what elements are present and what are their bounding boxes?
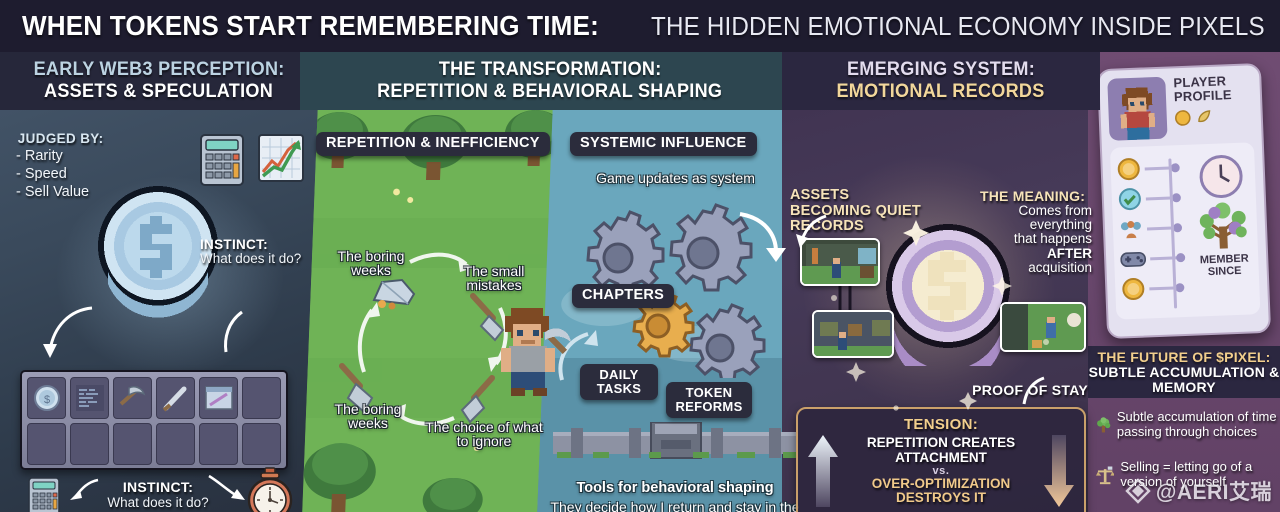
header-line-1: EARLY WEB3 PERCEPTION:: [33, 59, 284, 81]
profile-currency-row: [1174, 108, 1232, 126]
inventory-slot-pickaxe[interactable]: [113, 377, 152, 419]
inventory-slot-scroll[interactable]: [70, 377, 109, 419]
tension-text: REPETITION CREATES ATTACHMENT vs. OVER-O…: [846, 436, 1036, 506]
fence-icon: [553, 422, 798, 462]
meaning-title: THE MEANING:: [980, 188, 1092, 204]
systemic-subtitle: Game updates as system: [558, 170, 793, 186]
header-line-1: THE TRANSFORMATION:: [439, 59, 662, 81]
inventory-row: $: [27, 377, 281, 419]
tree-icon: [1096, 410, 1111, 440]
coin-icon: [1174, 109, 1191, 126]
instinct-right-title: INSTINCT:: [200, 237, 308, 252]
arrow-down-curve-icon: [730, 208, 790, 278]
title-secondary: THE HIDDEN EMOTIONAL ECONOMY INSIDE PIXE…: [651, 11, 1265, 42]
instinct-right-block: INSTINCT: What does it do?: [200, 237, 308, 266]
tree-icon: [1194, 197, 1252, 253]
future-item-text: Subtle accumulation of time passing thro…: [1117, 410, 1278, 439]
judged-by-item: - Rarity: [16, 148, 105, 164]
cycle-label-bottom-left: The boring weeks: [322, 402, 414, 431]
track-dot: [1173, 223, 1182, 232]
game-screenshot-thumb[interactable]: [1000, 302, 1086, 352]
meaning-body-1: Comes from: [980, 204, 1092, 218]
repetition-chip-wrap: REPETITION & INEFFICIENCY: [316, 132, 550, 156]
repetition-chip: REPETITION & INEFFICIENCY: [316, 132, 550, 156]
future-header: THE FUTURE OF $PIXEL: SUBTLE ACCUMULATIO…: [1088, 346, 1280, 398]
header-line-2: EMOTIONAL RECORDS: [837, 81, 1045, 103]
daily-tasks-chip-wrap: DAILY TASKS: [580, 364, 658, 400]
future-header-line-1: THE FUTURE OF $PIXEL:: [1098, 349, 1271, 365]
arrow-left-small-icon: [62, 476, 102, 506]
calculator-small-icon: [28, 477, 60, 512]
tools-subtitle: They decide how I return and stay in the…: [548, 500, 800, 512]
scales-icon: [1096, 460, 1114, 490]
diamond-icon: [1125, 478, 1151, 504]
inventory-slot-empty[interactable]: [27, 423, 66, 465]
instinct-right-body: What does it do?: [200, 252, 308, 266]
tension-line-1: REPETITION CREATES ATTACHMENT: [846, 436, 1036, 465]
track-row[interactable]: [1121, 272, 1198, 305]
meaning-body-4: AFTER: [980, 247, 1092, 261]
tension-card: TENSION: REPETITION CREATES ATTACHMENT v…: [796, 407, 1086, 512]
inventory-bar[interactable]: $: [20, 370, 288, 470]
judged-by-item: - Speed: [16, 166, 105, 182]
svg-text:$: $: [43, 394, 49, 406]
inventory-slot-coin[interactable]: $: [27, 377, 66, 419]
judged-by-item: - Sell Value: [16, 184, 105, 200]
token-reforms-chip-wrap: TOKEN REFORMS: [666, 382, 752, 418]
judged-by-block: JUDGED BY: - Rarity - Speed - Sell Value: [16, 130, 105, 200]
arrow-right-small-icon: [205, 472, 251, 506]
coin-icon: [1121, 277, 1146, 302]
panel-emerging-system: EMERGING SYSTEM: EMOTIONAL RECORDS ASSET…: [782, 52, 1100, 512]
panel-header-emerging-system: EMERGING SYSTEM: EMOTIONAL RECORDS: [782, 52, 1100, 110]
inventory-slot-empty[interactable]: [70, 423, 109, 465]
leaf-token-icon: [1195, 108, 1212, 125]
daily-tasks-chip: DAILY TASKS: [580, 364, 658, 400]
inventory-row: [27, 423, 281, 465]
future-header-line-2: SUBTLE ACCUMULATION & MEMORY: [1088, 365, 1280, 394]
chart-up-icon: [258, 134, 304, 187]
inventory-slot-sword[interactable]: [156, 377, 195, 419]
inventory-slot-empty[interactable]: [242, 377, 281, 419]
check-orb-icon: [1117, 187, 1142, 212]
member-since-label: MEMBER SINCE: [1196, 253, 1253, 279]
track-row[interactable]: [1117, 182, 1194, 215]
panel-player-profile: PLAYER PROFILE: [1088, 52, 1280, 512]
systemic-chip-wrap: SYSTEMIC INFLUENCE: [570, 132, 757, 156]
game-screenshot-thumb[interactable]: [812, 310, 894, 358]
coin-icon: [1116, 157, 1141, 182]
watermark-text: @AERI艾瑞: [1156, 476, 1272, 506]
player-profile-card[interactable]: PLAYER PROFILE: [1097, 63, 1271, 339]
profile-header: PLAYER PROFILE: [1107, 73, 1253, 140]
cycle-label-top-right: The small mistakes: [448, 264, 540, 293]
profile-title-line-2: PROFILE: [1174, 88, 1232, 105]
infographic-poster: WHEN TOKENS START REMEMBERING TIME: THE …: [0, 0, 1280, 512]
panel-early-web3: EARLY WEB3 PERCEPTION: ASSETS & SPECULAT…: [0, 52, 318, 512]
profile-title-block: PLAYER PROFILE: [1173, 74, 1233, 126]
profile-stats-panel: MEMBER SINCE: [1110, 142, 1260, 319]
meaning-body-5: acquisition: [980, 261, 1092, 275]
cycle-label-top-left: The boring weeks: [325, 249, 417, 278]
track-dot: [1172, 193, 1181, 202]
judged-by-title: JUDGED BY:: [18, 130, 104, 146]
track-dot: [1175, 283, 1184, 292]
meaning-body-3: that happens: [980, 232, 1092, 246]
inventory-slot-empty[interactable]: [113, 423, 152, 465]
gamepad-icon: [1120, 249, 1147, 270]
achievement-track: [1116, 152, 1198, 313]
track-dot: [1171, 163, 1180, 172]
inventory-slot-empty[interactable]: [242, 423, 281, 465]
tension-title: TENSION:: [806, 416, 1076, 433]
track-dot: [1176, 253, 1185, 262]
chapters-chip: CHAPTERS: [572, 284, 674, 308]
arrow-down-icon: [1042, 433, 1076, 509]
future-item: Subtle accumulation of time passing thro…: [1096, 410, 1278, 440]
chess-pawn-icon: [1119, 217, 1144, 242]
panel-transformation: THE TRANSFORMATION: REPETITION & BEHAVIO…: [300, 52, 800, 512]
inventory-slot-card[interactable]: [199, 377, 238, 419]
track-row[interactable]: [1118, 212, 1195, 245]
arrow-curve-icon: [212, 308, 252, 358]
track-row[interactable]: [1120, 242, 1197, 275]
profile-side-column: MEMBER SINCE: [1192, 150, 1254, 310]
proof-of-stay-label: PROOF OF STAY: [972, 382, 1088, 398]
hero-character-icon: [485, 300, 571, 401]
watermark: @AERI艾瑞: [1125, 476, 1272, 506]
track-row[interactable]: [1116, 152, 1193, 185]
inventory-slot-empty[interactable]: [156, 423, 195, 465]
cycle-label-bottom-right: The choice of what to ignore: [425, 420, 543, 449]
tools-title: Tools for behavioral shaping: [550, 480, 800, 496]
arrow-down-left-icon: [792, 212, 836, 256]
systemic-influence-chip: SYSTEMIC INFLUENCE: [570, 132, 757, 156]
arrow-up-icon: [806, 433, 840, 509]
arrow-down-left-icon: [30, 302, 100, 372]
title-primary: WHEN TOKENS START REMEMBERING TIME:: [22, 10, 599, 42]
header-line-2: ASSETS & SPECULATION: [44, 81, 273, 103]
header-line-1: EMERGING SYSTEM:: [847, 59, 1035, 81]
header-line-2: REPETITION & BEHAVIORAL SHAPING: [377, 81, 722, 103]
tension-body: REPETITION CREATES ATTACHMENT vs. OVER-O…: [806, 433, 1076, 509]
poster-title-bar: WHEN TOKENS START REMEMBERING TIME: THE …: [0, 0, 1280, 52]
inventory-slot-empty[interactable]: [199, 423, 238, 465]
clock-icon: [1198, 154, 1244, 200]
meaning-body-2: everything: [980, 218, 1092, 232]
avatar: [1107, 77, 1167, 141]
stopwatch-icon: [244, 467, 296, 512]
panel-header-early-web3: EARLY WEB3 PERCEPTION: ASSETS & SPECULAT…: [0, 52, 318, 110]
meaning-block: THE MEANING: Comes from everything that …: [980, 188, 1092, 275]
tension-line-2: OVER-OPTIMIZATION DESTROYS IT: [846, 477, 1036, 506]
chapters-chip-wrap: CHAPTERS: [572, 284, 674, 308]
panel-header-transformation: THE TRANSFORMATION: REPETITION & BEHAVIO…: [300, 52, 800, 110]
token-reforms-chip: TOKEN REFORMS: [666, 382, 752, 418]
